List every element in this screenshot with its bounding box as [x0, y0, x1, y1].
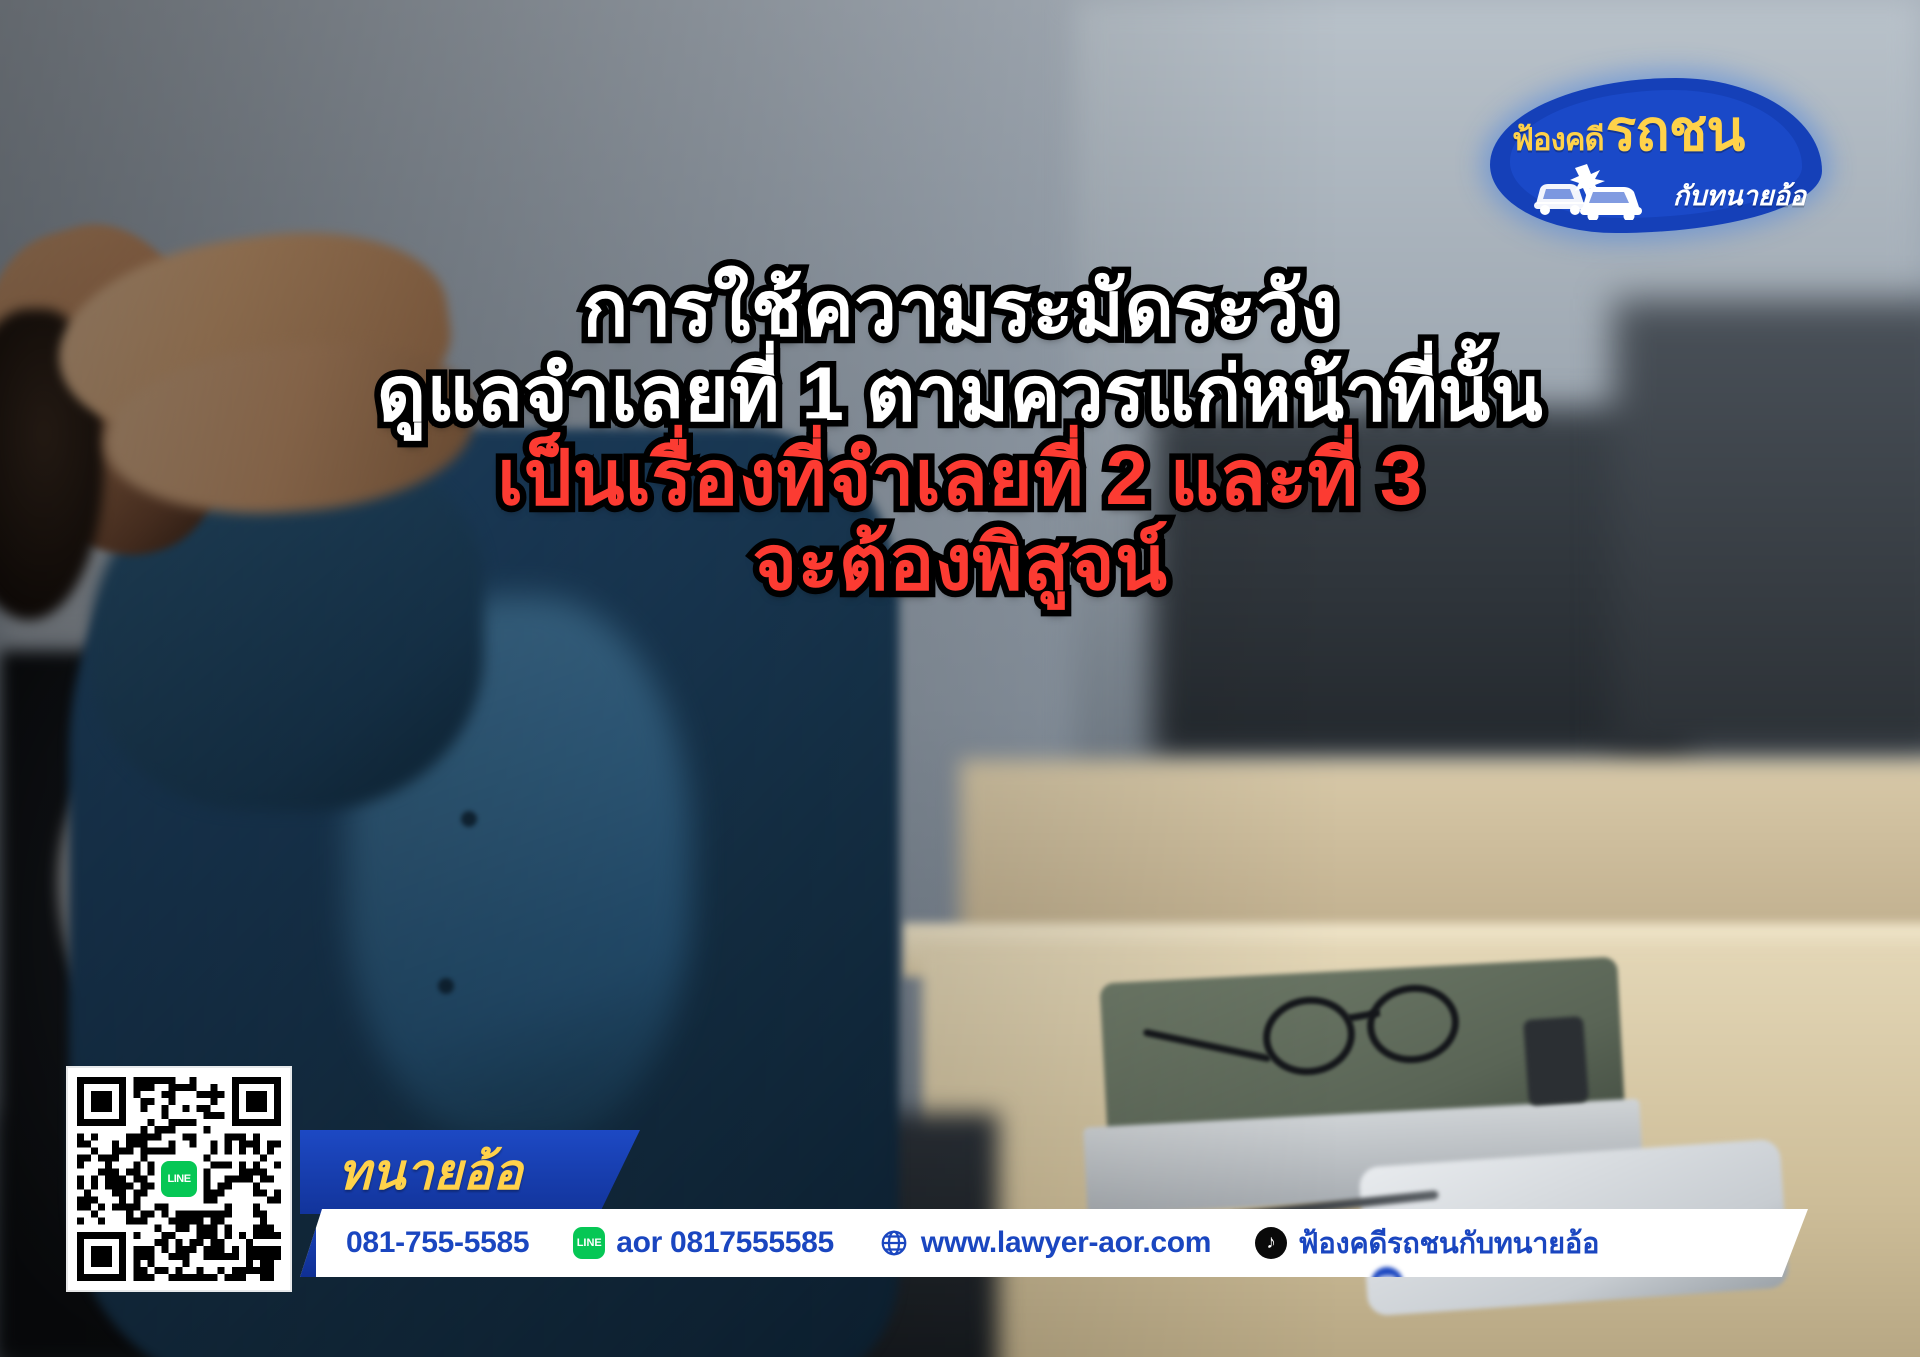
shirt-button — [461, 811, 477, 827]
poster-root: ฟ้องคดี รถชน กับทนายอ้อ การใช้ความระมัดร… — [0, 0, 1920, 1357]
contact-website-text: www.lawyer-aor.com — [921, 1226, 1211, 1260]
logo-prefix: ฟ้องคดี — [1512, 114, 1604, 164]
contact-line-text: aor 0817555585 — [616, 1226, 834, 1260]
contact-tiktok-text: ฟ้องคดีรถชนกับทนายอ้อ — [1298, 1220, 1599, 1266]
brand-logo[interactable]: ฟ้องคดี รถชน กับทนายอ้อ — [1490, 78, 1822, 233]
qr-center-label: LINE — [167, 1173, 190, 1185]
contact-bar: ☎ 081-755-5585 LINE aor 0817555585 www.l… — [300, 1209, 1808, 1277]
tiktok-icon: ♪ — [1255, 1227, 1287, 1259]
globe-icon — [878, 1227, 910, 1259]
trackpad — [1523, 1016, 1589, 1106]
lawyer-name-badge: ทนายอ้อ — [300, 1130, 640, 1214]
headline-line-4: จะต้องพิสูจน์ — [0, 522, 1920, 607]
contact-phone-text: 081-755-5585 — [346, 1226, 529, 1260]
contact-phone[interactable]: ☎ 081-755-5585 — [346, 1226, 529, 1260]
contact-line[interactable]: LINE aor 0817555585 — [573, 1226, 834, 1260]
line-app-icon: LINE — [157, 1157, 201, 1201]
logo-line2: กับทนายอ้อ — [1673, 174, 1806, 217]
line-qr-code[interactable]: LINE — [68, 1068, 290, 1290]
headline-line-1: การใช้ความระมัดระวัง — [0, 268, 1920, 353]
headline-line-3: เป็นเรื่องที่จำเลยที่ 2 และที่ 3 — [0, 437, 1920, 522]
line-icon: LINE — [573, 1227, 605, 1259]
two-cars-collision-icon — [1530, 158, 1660, 220]
contact-tiktok[interactable]: ♪ ฟ้องคดีรถชนกับทนายอ้อ — [1255, 1220, 1599, 1266]
lawyer-name-label: ทนายอ้อ — [338, 1133, 523, 1212]
logo-main: รถชน — [1606, 104, 1745, 158]
shirt-button — [438, 978, 454, 994]
contact-website[interactable]: www.lawyer-aor.com — [878, 1226, 1211, 1260]
headline-block: การใช้ความระมัดระวัง ดูแลจำเลยที่ 1 ตามค… — [0, 268, 1920, 606]
headline-line-2: ดูแลจำเลยที่ 1 ตามควรแก่หน้าที่นั้น — [0, 353, 1920, 438]
logo-line1: ฟ้องคดี รถชน — [1512, 104, 1802, 164]
